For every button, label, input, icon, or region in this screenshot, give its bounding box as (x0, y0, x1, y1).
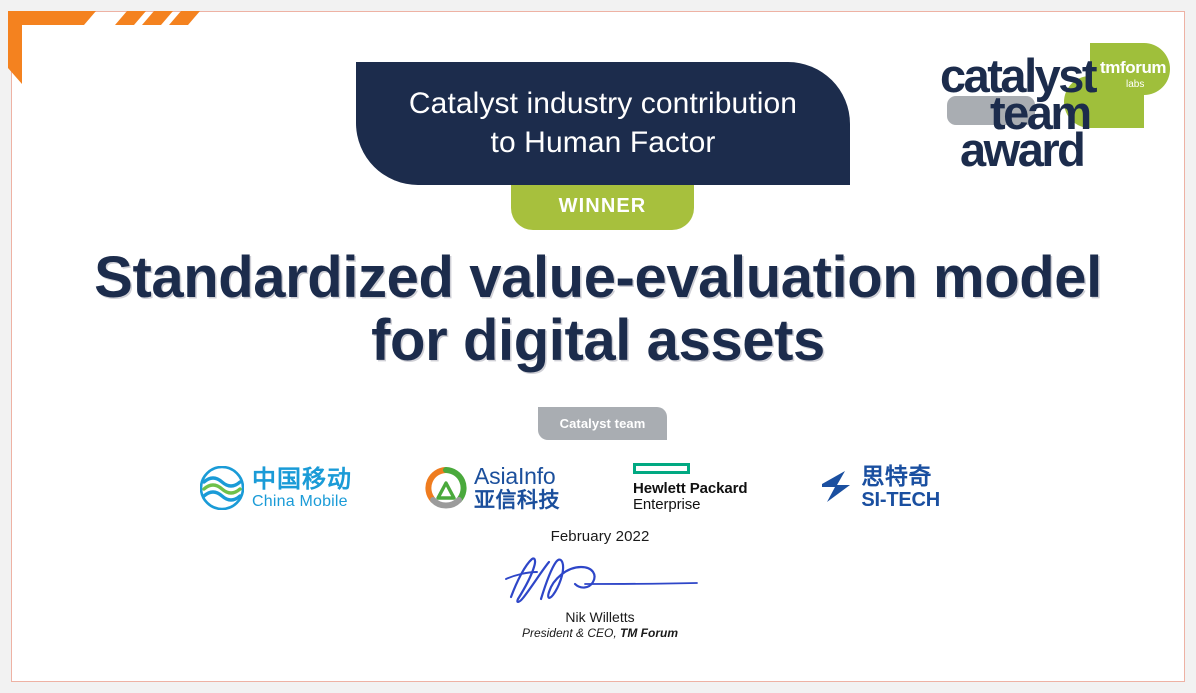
signature-block: February 2022 Nik Willetts President & C… (398, 528, 802, 640)
si-tech-icon (820, 468, 856, 508)
tmforum-leaf-subtext: labs (1126, 79, 1144, 90)
certificate-date: February 2022 (398, 528, 802, 545)
partner-logo-strip: 中国移动 China Mobile AsiaInfo 亚信科技 (200, 455, 940, 521)
award-category-line-2: to Human Factor (491, 126, 716, 159)
signatory-role: President & CEO, TM Forum (398, 626, 802, 640)
catalyst-team-badge-label: Catalyst team (560, 416, 646, 431)
project-title: Standardized value-evaluation model for … (60, 247, 1136, 372)
partner-logo-china-mobile: 中国移动 China Mobile (200, 455, 352, 521)
si-tech-name-en: SI-TECH (861, 490, 940, 510)
catalyst-team-badge: Catalyst team (538, 407, 667, 440)
catalyst-logo-word-award: award (960, 123, 1083, 176)
winner-badge: WINNER (511, 183, 694, 230)
award-certificate: Catalyst industry contribution to Human … (0, 0, 1196, 693)
asiainfo-name-en: AsiaInfo (474, 465, 560, 488)
partner-logo-si-tech: 思特奇 SI-TECH (820, 455, 940, 521)
project-title-line-1: Standardized value-evaluation model (60, 247, 1136, 310)
handwritten-signature-icon (485, 553, 715, 607)
china-mobile-name-en: China Mobile (252, 494, 352, 510)
winner-badge-label: WINNER (559, 195, 647, 218)
award-category-banner: Catalyst industry contribution to Human … (356, 62, 850, 185)
partner-logo-asiainfo: AsiaInfo 亚信科技 (425, 455, 560, 521)
tmforum-leaf-wordmark: tmforum (1100, 58, 1166, 77)
si-tech-name-cn: 思特奇 (861, 466, 940, 489)
signatory-name: Nik Willetts (398, 609, 802, 625)
award-category-text: Catalyst industry contribution to Human … (383, 85, 823, 162)
china-mobile-name-cn: 中国移动 (252, 467, 352, 491)
hpe-rectangle-icon (633, 463, 690, 474)
award-category-line-1: Catalyst industry contribution (409, 87, 797, 120)
signatory-role-prefix: President & CEO, (522, 626, 620, 640)
china-mobile-icon (200, 466, 244, 510)
signatory-role-org: TM Forum (620, 626, 678, 640)
partner-logo-hpe: Hewlett Packard Enterprise (633, 455, 747, 521)
signature-mark (398, 553, 802, 607)
asiainfo-name-cn: 亚信科技 (474, 490, 560, 511)
hpe-name-line-1: Hewlett Packard (633, 481, 747, 497)
project-title-line-2: for digital assets (60, 310, 1136, 373)
catalyst-team-award-logo: catalyst team award tmforum labs (930, 40, 1170, 180)
hpe-name-line-2: Enterprise (633, 497, 700, 514)
asiainfo-icon (425, 467, 467, 509)
